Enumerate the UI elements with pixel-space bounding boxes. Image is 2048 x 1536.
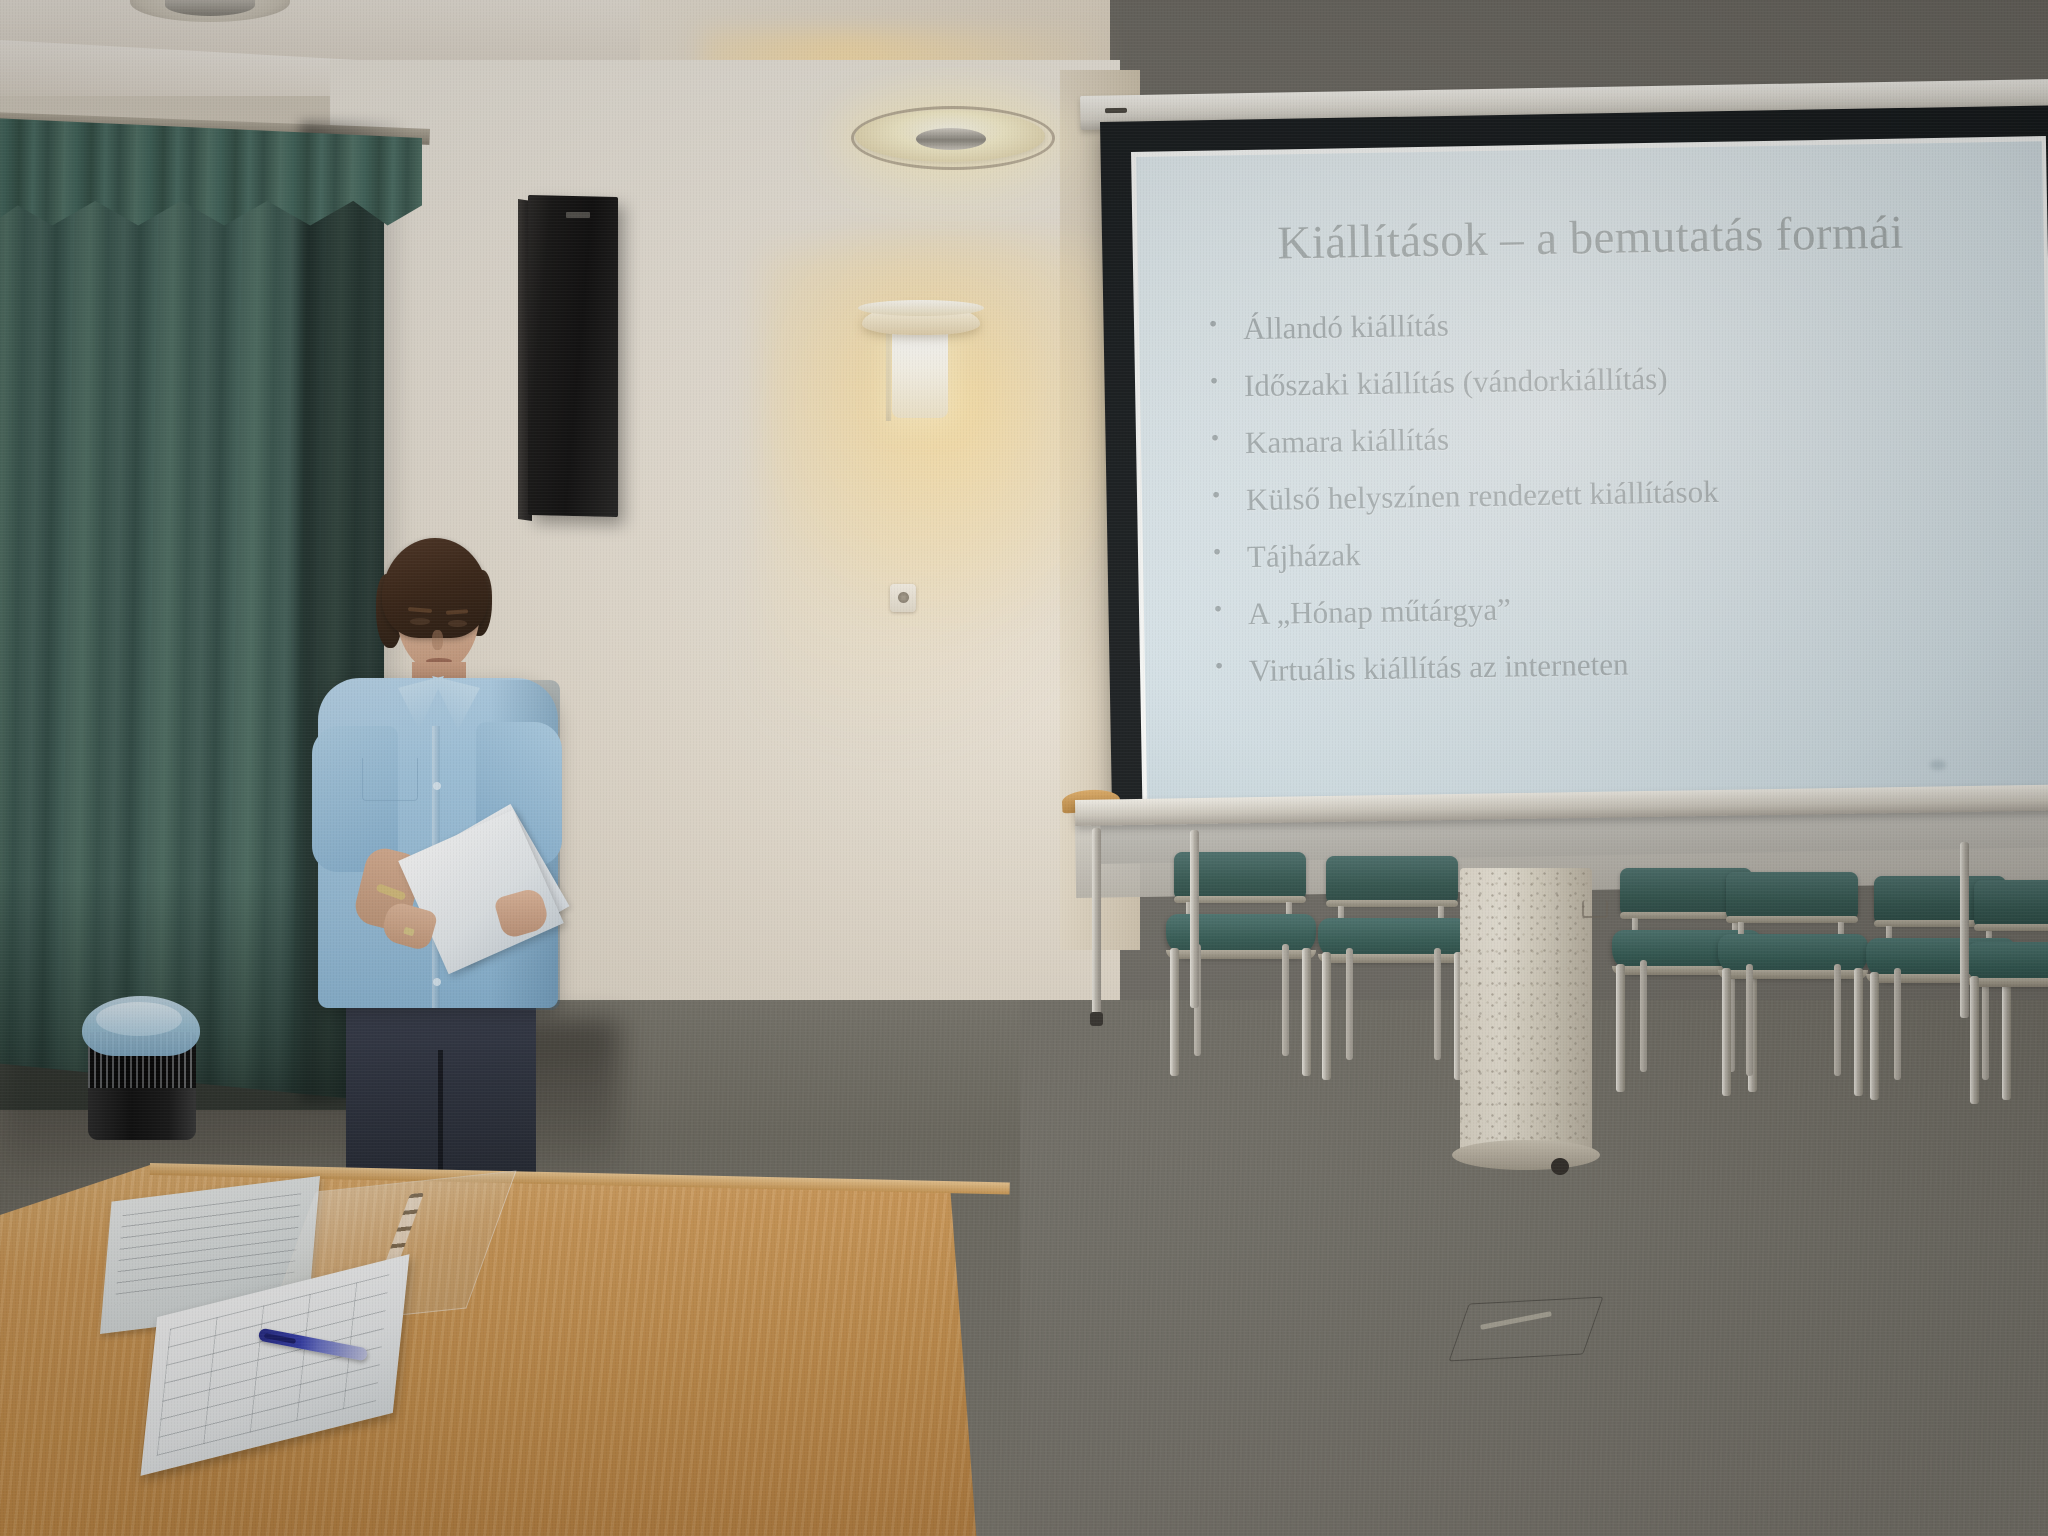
slide-bullet-item: A „Hónap műtárgya” (1214, 585, 2010, 630)
chair-leg (1282, 944, 1289, 1056)
sconce-light-glow (760, 225, 1160, 645)
chair-leg (1746, 964, 1753, 1076)
column-foot-pad (1551, 1158, 1569, 1175)
presenter-eye-left (410, 618, 430, 625)
slide-bullet-list: Állandó kiállítás Időszaki kiállítás (vá… (1179, 300, 2011, 687)
back-table-leg-foot (1090, 1012, 1103, 1026)
floor-outlet-box (1449, 1297, 1604, 1362)
chair-leg (1970, 976, 1979, 1104)
chair-leg (1640, 960, 1647, 1072)
projection-surface: Kiállítások – a bemutatás formái Állandó… (1136, 141, 2048, 829)
slide-content: Kiállítások – a bemutatás formái Állandó… (1136, 141, 2048, 829)
presenter-eye-right (448, 620, 467, 627)
chair-leg (1854, 968, 1863, 1096)
presenter-shirt-button (433, 782, 441, 790)
column-cable-hook (1582, 900, 1608, 918)
chair-leg (1322, 952, 1331, 1080)
slide-bullet-item: Időszaki kiállítás (vándorkiállítás) (1210, 357, 2006, 402)
slide-bullet-item: Kamara kiállítás (1211, 414, 2007, 459)
back-table-leg (1960, 842, 1969, 1018)
presenter-hair (382, 538, 488, 638)
back-table-leg (1190, 830, 1199, 1008)
outlet-socket-hole (898, 592, 909, 603)
waste-basket-liner-highlight (96, 1002, 182, 1036)
chair-backrest (1974, 880, 2048, 928)
conference-room-photo: Kiállítások – a bemutatás formái Állandó… (0, 0, 2048, 1536)
column-base (1452, 1140, 1600, 1170)
presenter (300, 530, 630, 1180)
sconce-stem (886, 325, 891, 421)
chair-leg (1870, 972, 1879, 1100)
wall-speaker-icon (528, 195, 618, 517)
chair-seat-edge (1318, 954, 1468, 963)
screen-smudge (1930, 760, 1946, 770)
presenter-shirt-button (433, 978, 441, 986)
chair-seat-edge (1166, 950, 1316, 959)
chair-seat-edge (1718, 970, 1868, 979)
chair-leg (1346, 948, 1353, 1060)
chair-leg (1834, 964, 1841, 1076)
presenter-nose (432, 630, 443, 650)
chair-leg (1170, 948, 1179, 1076)
sconce-diffuser (892, 328, 948, 418)
slide-bullet-item: Külső helyszínen rendezett kiállítások (1212, 471, 2008, 516)
chair-leg (1302, 948, 1311, 1076)
chair-leg (2002, 972, 2011, 1100)
chair-leg (1434, 948, 1441, 1060)
chair-leg (1722, 968, 1731, 1096)
chair-backrest-edge (1974, 924, 2048, 931)
back-table-leg (1092, 828, 1101, 1018)
speaker-brand-badge (566, 212, 590, 218)
chair-backrest (1326, 856, 1458, 904)
chair-backrest (1726, 872, 1858, 920)
column-speckle-texture (1460, 868, 1592, 1158)
presenter-shirt-pocket (362, 758, 418, 801)
slide-title: Kiállítások – a bemutatás formái (1177, 204, 2004, 272)
slide-bullet-item: Virtuális kiállítás az interneten (1215, 642, 2011, 687)
slide-bullet-item: Tájházak (1213, 528, 2009, 573)
chair-leg (1616, 964, 1625, 1092)
ceiling-dome-core (916, 128, 986, 150)
slide-bullet-item: Állandó kiállítás (1209, 300, 2005, 345)
projector-screen-pull-tab[interactable] (1105, 108, 1127, 113)
chair-leg (1894, 968, 1901, 1080)
sconce-bowl-rim (858, 300, 984, 316)
